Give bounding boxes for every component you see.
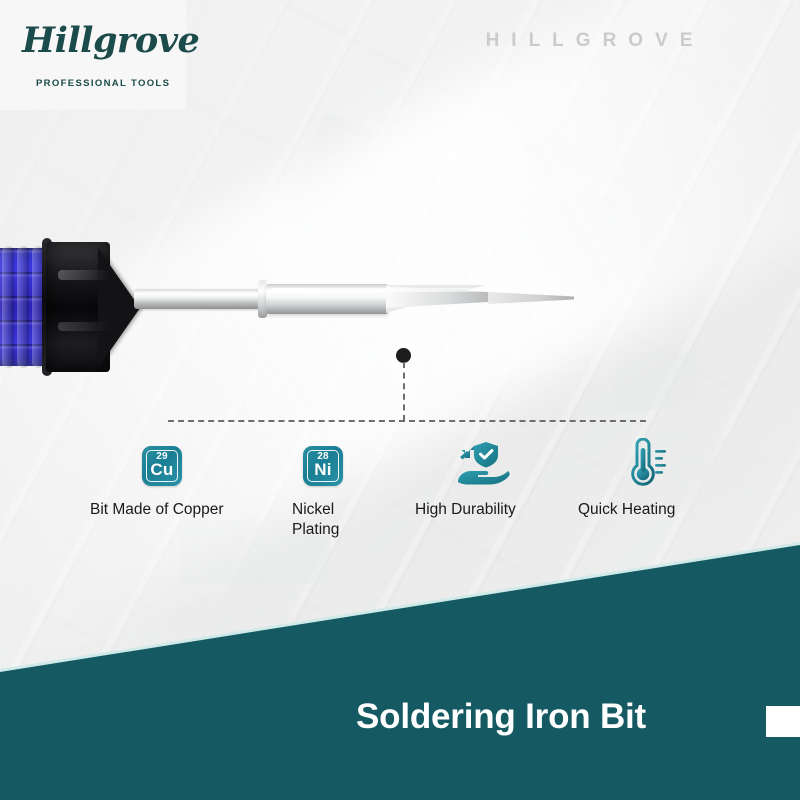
brand-logo-tagline: PROFESSIONAL TOOLS: [36, 78, 170, 89]
feature-row: 29 Cu Bit Made of Copper 28 Ni Nickel Pl…: [0, 440, 800, 550]
feature-label: Nickel Plating: [292, 500, 412, 541]
element-symbol: Ni: [303, 460, 343, 480]
cone-highlight: [58, 270, 110, 280]
soldering-iron-image: [0, 236, 600, 376]
thermometer-icon: [623, 438, 673, 486]
element-nickel-icon: 28 Ni: [303, 446, 343, 486]
callout-horizontal-dashed-line: [168, 420, 646, 422]
hand-shield-check-icon: [456, 440, 512, 486]
grip-rib: [2, 246, 14, 368]
watermark-text: HILLGROVE: [420, 30, 770, 52]
callout-dot: [396, 348, 411, 363]
feature-item-heating: Quick Heating: [578, 440, 738, 520]
feature-label: Quick Heating: [578, 500, 738, 520]
feature-icon-wrap: [623, 440, 738, 486]
bit-tip: [488, 292, 574, 304]
element-symbol: Cu: [142, 460, 182, 480]
feature-icon-wrap: [456, 440, 585, 486]
feature-icon-wrap: 28 Ni: [303, 440, 412, 486]
feature-label: High Durability: [415, 500, 585, 520]
background-chip: [612, 352, 696, 410]
banner-title: Soldering Iron Bit: [356, 697, 646, 737]
callout-vertical-dashed-line: [403, 362, 405, 421]
brand-logo-name: Hillgrove: [22, 20, 199, 61]
feature-label: Bit Made of Copper: [90, 500, 265, 520]
grip-rib: [17, 246, 29, 368]
banner-accent-block: [766, 706, 800, 737]
element-copper-icon: 29 Cu: [142, 446, 182, 486]
product-infographic: HILLGROVE Hillgrove PROFESSIONAL TOOLS: [0, 0, 800, 800]
black-cone: [98, 248, 140, 368]
metal-shaft: [134, 289, 266, 309]
feature-item-durability: High Durability: [415, 440, 585, 520]
bit-shine: [272, 288, 572, 292]
cone-highlight: [58, 322, 110, 331]
logo-panel: Hillgrove PROFESSIONAL TOOLS: [0, 0, 186, 110]
feature-item-copper: 29 Cu Bit Made of Copper: [90, 440, 265, 520]
feature-item-nickel: 28 Ni Nickel Plating: [292, 440, 412, 541]
feature-icon-wrap: 29 Cu: [142, 440, 265, 486]
